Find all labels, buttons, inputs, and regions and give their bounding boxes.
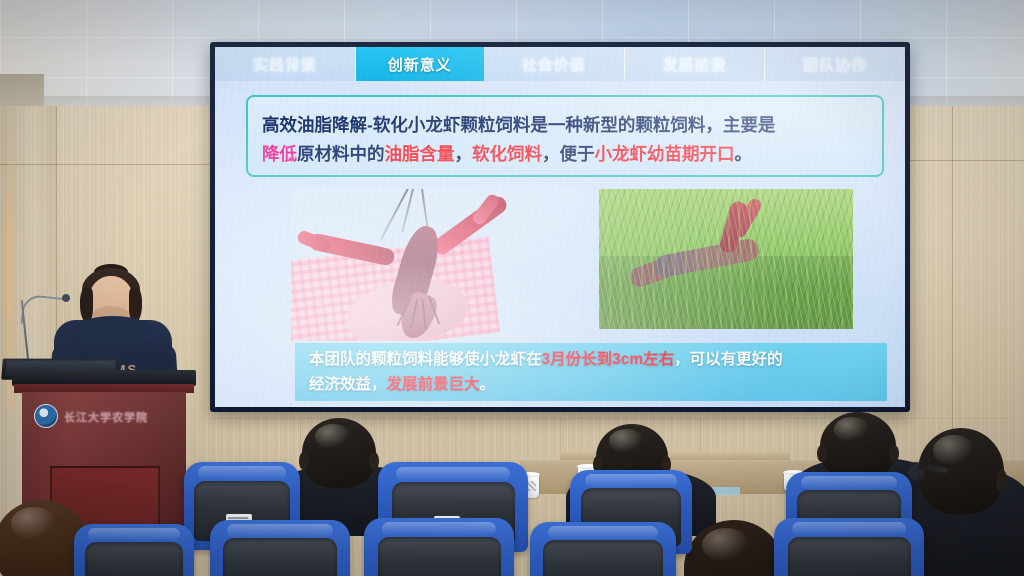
slide-tab-innovation-significance[interactable]: 创新意义 — [356, 47, 484, 81]
seat-highlight — [585, 474, 678, 487]
slide-tab-development-prospect[interactable]: 发展前景 — [625, 47, 766, 81]
seat-highlight — [801, 476, 897, 489]
slide-text-seg: 原材料中的 — [297, 144, 385, 164]
wall-seam — [908, 160, 1024, 161]
auditorium-seat[interactable] — [530, 522, 676, 576]
banner-seg-growth-metric: 3月份长到3cm左右 — [542, 351, 675, 368]
slide-text-seg-reduce: 降低 — [262, 144, 297, 164]
slide-text-line-1: 高效油脂降解-软化小龙虾颗粒饲料是一种新型的颗粒饲料，主要是 — [262, 115, 868, 137]
seat-cushion — [543, 540, 663, 576]
banner-seg: ，可以有更好的 — [674, 351, 783, 368]
slide-photo-crayfish-in-grass — [599, 189, 853, 329]
slide-text-seg-soften-feed: 软化饲料 — [472, 144, 542, 164]
seat-cushion — [788, 537, 911, 576]
slide-text-seg-oil-content: 油脂含量 — [385, 144, 455, 164]
presenter-hair-side-left — [80, 288, 93, 322]
slide-text-seg: ，便于 — [542, 144, 595, 164]
wall-seam — [0, 164, 212, 165]
slide-tab-team-collaboration[interactable]: 团队协作 — [765, 47, 905, 81]
slide-text-seg: ， — [455, 144, 473, 164]
slide-text-box: 高效油脂降解-软化小龙虾颗粒饲料是一种新型的颗粒饲料，主要是 降低原材料中的油脂… — [246, 95, 884, 177]
slide-tab-practice-background[interactable]: 实践背景 — [215, 47, 356, 81]
presentation-slide: 实践背景 创新意义 社会价值 发展前景 团队协作 高效油脂降解-软化小龙虾颗粒饲… — [215, 47, 905, 407]
slide-photo-crayfish-in-hand — [291, 189, 581, 341]
auditorium-seat[interactable] — [210, 520, 350, 576]
banner-seg: 。 — [480, 376, 496, 393]
seat-cushion — [378, 537, 501, 576]
audience-head — [820, 412, 896, 480]
audience-head-front-center — [684, 520, 784, 576]
banner-line-2: 经济效益，发展前景巨大。 — [309, 375, 873, 394]
seat-highlight — [227, 524, 333, 537]
banner-seg: 经济效益， — [309, 376, 387, 393]
seat-highlight — [548, 526, 659, 539]
hair-highlight — [702, 528, 750, 563]
grass-blades-overlay — [599, 189, 853, 329]
microphone-gooseneck — [21, 294, 68, 328]
seat-highlight — [382, 522, 496, 536]
banner-seg: 本团队的颗粒饲料能够使小龙虾在 — [309, 351, 542, 368]
seat-highlight — [792, 522, 906, 536]
slide-bottom-banner: 本团队的颗粒饲料能够使小龙虾在3月份长到3cm左右，可以有更好的 经济效益，发展… — [295, 343, 887, 401]
label-line — [228, 517, 248, 519]
seat-cushion — [85, 542, 183, 576]
conference-room-scene: 实践背景 创新意义 社会价值 发展前景 团队协作 高效油脂降解-软化小龙虾颗粒饲… — [0, 0, 1024, 576]
slide-text-line-2: 降低原材料中的油脂含量，软化饲料，便于小龙虾幼苗期开口。 — [262, 144, 868, 166]
slide-nav-tabs: 实践背景 创新意义 社会价值 发展前景 团队协作 — [215, 47, 905, 81]
seat-highlight — [88, 528, 179, 541]
microphone-head — [62, 294, 70, 302]
seat-highlight — [396, 467, 510, 481]
seat-highlight — [198, 466, 286, 480]
hair-highlight — [11, 507, 57, 539]
presenter-hood — [74, 316, 152, 344]
banner-line-1: 本团队的颗粒饲料能够使小龙虾在3月份长到3cm左右，可以有更好的 — [309, 350, 873, 369]
auditorium-seat[interactable] — [74, 524, 194, 576]
audience-head — [302, 418, 376, 488]
slide-text-seg: 高效油脂降解-软化小龙虾颗粒饲料是一种新型的颗粒饲料，主要是 — [262, 115, 775, 135]
slide-text-seg-juvenile-feeding: 小龙虾幼苗期开口 — [595, 144, 735, 164]
university-crest-icon — [34, 404, 58, 428]
slide-text-seg: 。 — [735, 144, 753, 164]
hair-highlight — [933, 435, 974, 466]
audience-head-with-glasses — [918, 428, 1004, 514]
podium-institution-text: 长江大学农学院 — [64, 408, 184, 426]
auditorium-seat[interactable] — [364, 518, 514, 576]
hair-highlight — [315, 424, 351, 449]
banner-seg-prospect: 发展前景巨大 — [387, 376, 480, 393]
slide-tab-social-value[interactable]: 社会价值 — [484, 47, 625, 81]
auditorium-seat[interactable] — [774, 518, 924, 576]
presentation-screen-bezel: 实践背景 创新意义 社会价值 发展前景 团队协作 高效油脂降解-软化小龙虾颗粒饲… — [210, 42, 910, 412]
hair-highlight — [609, 429, 644, 453]
ear-left — [299, 452, 309, 470]
ear-left — [817, 445, 827, 463]
hair-highlight — [834, 417, 870, 441]
seat-cushion — [223, 538, 338, 576]
